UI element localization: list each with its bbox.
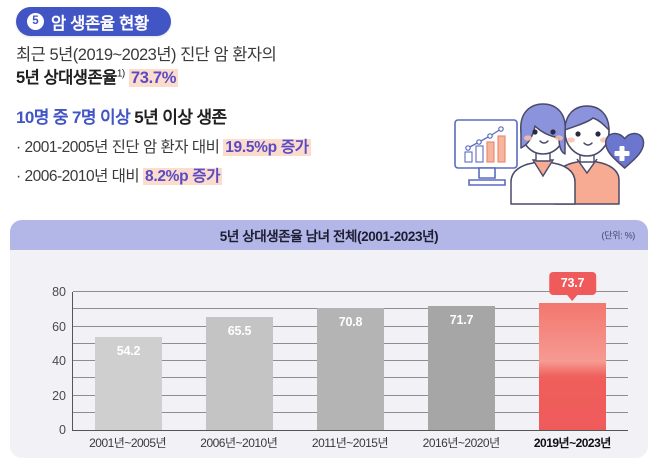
chart-plot-area: 020406080 54.265.570.871.773.773.7 2001년… <box>10 250 648 458</box>
survival-rate-highlight: 73.7% <box>129 69 178 87</box>
plot-grid: 54.265.570.871.773.773.7 <box>72 292 628 431</box>
bullet-item-2: · 2006-2010년 대비 8.2%p 증가 <box>16 164 456 186</box>
bar-slot: 54.2 <box>73 292 184 430</box>
x-axis-tick-label: 2011년~2015년 <box>294 434 405 451</box>
bar: 71.7 <box>428 306 495 430</box>
x-axis-labels: 2001년~2005년2006년~2010년2011년~2015년2016년~2… <box>72 434 628 451</box>
y-axis-tick-label: 80 <box>34 285 66 299</box>
person-woman-illustration <box>511 104 575 204</box>
section-header-pill: 5 암 생존율 현황 <box>16 7 171 36</box>
bar: 70.8 <box>317 308 384 430</box>
y-axis-tick-label: 60 <box>34 320 66 334</box>
bar-highlighted: 73.7 <box>539 303 606 430</box>
chart-panel: 5년 상대생존율 남녀 전체(2001-2023년) (단위: %) 02040… <box>10 220 648 458</box>
chart-header: 5년 상대생존율 남녀 전체(2001-2023년) (단위: %) <box>10 220 648 250</box>
summary-line-1: 최근 5년(2019~2023년) 진단 암 환자의 <box>16 44 456 66</box>
x-axis-tick-label: 2016년~2020년 <box>406 434 517 451</box>
summary-line-3: 10명 중 7명 이상 5년 이상 생존 <box>16 103 456 128</box>
bullet-2-highlight: 8.2%p 증가 <box>143 168 222 185</box>
y-axis-tick-label: 20 <box>34 389 66 403</box>
bar-slot: 70.8 <box>295 292 406 430</box>
bar: 65.5 <box>206 317 273 430</box>
bullet-2-text: · 2006-2010년 대비 <box>16 168 143 185</box>
bullet-item-1: · 2001-2005년 진단 암 환자 대비 19.5%p 증가 <box>16 135 456 157</box>
bullet-1-highlight: 19.5%p 증가 <box>223 139 311 156</box>
bar-value-label: 70.8 <box>339 315 363 329</box>
chart-title: 5년 상대생존율 남녀 전체(2001-2023년) <box>220 225 439 245</box>
heart-medical-cross-icon <box>606 134 644 169</box>
y-axis: 020406080 <box>22 250 66 458</box>
bar-value-label: 65.5 <box>228 324 252 338</box>
bar: 54.2 <box>95 337 162 430</box>
x-axis-tick-label: 2006년~2010년 <box>183 434 294 451</box>
summary-line-3-black: 5년 이상 생존 <box>134 108 226 127</box>
summary-line-3-blue: 10명 중 7명 이상 <box>16 108 130 127</box>
bar-series: 54.265.570.871.773.773.7 <box>73 292 628 430</box>
chart-unit-label: (단위: %) <box>602 229 635 242</box>
bar-value-label: 71.7 <box>450 313 474 327</box>
y-axis-tick-label: 40 <box>34 354 66 368</box>
x-axis-tick-label: 2001년~2005년 <box>72 434 183 451</box>
y-axis-tick-label: 0 <box>34 423 66 437</box>
bar-slot: 71.7 <box>406 292 517 430</box>
bar-value-callout: 73.7 <box>549 272 597 295</box>
footnote-marker: 1) <box>117 69 125 80</box>
bullet-1-text: · 2001-2005년 진단 암 환자 대비 <box>16 139 223 156</box>
couple-with-monitor-and-heart-icon <box>443 84 651 210</box>
x-axis-tick-label: 2019년~2023년 <box>517 434 628 451</box>
bar-slot: 65.5 <box>184 292 295 430</box>
section-number-badge: 5 <box>27 13 44 30</box>
summary-line-2-prefix: 5년 상대생존율 <box>16 69 117 87</box>
bar-value-label: 54.2 <box>117 344 141 358</box>
page-title: 암 생존율 현황 <box>51 10 149 34</box>
bar-slot: 73.773.7 <box>517 292 628 430</box>
summary-text-block: 최근 5년(2019~2023년) 진단 암 환자의 5년 상대생존율1) 73… <box>16 44 456 186</box>
monitor-icon <box>455 120 517 185</box>
summary-line-2: 5년 상대생존율1) 73.7% <box>16 67 456 91</box>
